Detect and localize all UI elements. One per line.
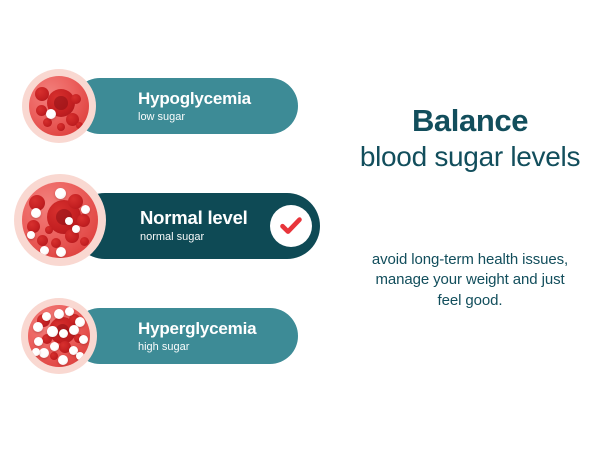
level-text-hyperglycemia: Hyperglycemia high sugar	[138, 320, 256, 353]
blood-sugar-level-list: Hypoglycemia low sugar	[0, 0, 340, 450]
level-subtitle-hyperglycemia: high sugar	[138, 342, 256, 353]
infographic-canvas: Hypoglycemia low sugar	[0, 0, 600, 450]
headline: Balance blood sugar levels	[340, 104, 600, 172]
blood-cell-high-icon	[21, 298, 97, 374]
level-subtitle-normal: normal sugar	[140, 232, 248, 243]
blood-cell-normal-icon	[14, 174, 106, 266]
body-copy: avoid long-term health issues, manage yo…	[362, 250, 578, 311]
level-text-normal: Normal level normal sugar	[140, 209, 248, 244]
level-title-hyperglycemia: Hyperglycemia	[138, 320, 256, 337]
level-pill-hyperglycemia[interactable]: Hyperglycemia high sugar	[72, 308, 298, 364]
blood-cell-low-icon	[22, 69, 96, 143]
headline-light: blood sugar levels	[340, 141, 600, 172]
level-title-hypoglycemia: Hypoglycemia	[138, 90, 251, 107]
level-title-normal: Normal level	[140, 209, 248, 228]
copy-block: Balance blood sugar levels avoid long-te…	[340, 0, 600, 450]
level-pill-normal[interactable]: Normal level normal sugar	[72, 193, 320, 259]
level-subtitle-hypoglycemia: low sugar	[138, 112, 251, 123]
level-row-hypoglycemia[interactable]: Hypoglycemia low sugar	[20, 58, 96, 154]
level-pill-hypoglycemia[interactable]: Hypoglycemia low sugar	[72, 78, 298, 134]
check-icon	[270, 205, 312, 247]
headline-strong: Balance	[340, 104, 600, 139]
level-row-hyperglycemia[interactable]: Hyperglycemia high sugar	[20, 288, 97, 384]
level-text-hypoglycemia: Hypoglycemia low sugar	[138, 90, 251, 123]
level-row-normal[interactable]: Normal level normal sugar	[20, 172, 106, 268]
